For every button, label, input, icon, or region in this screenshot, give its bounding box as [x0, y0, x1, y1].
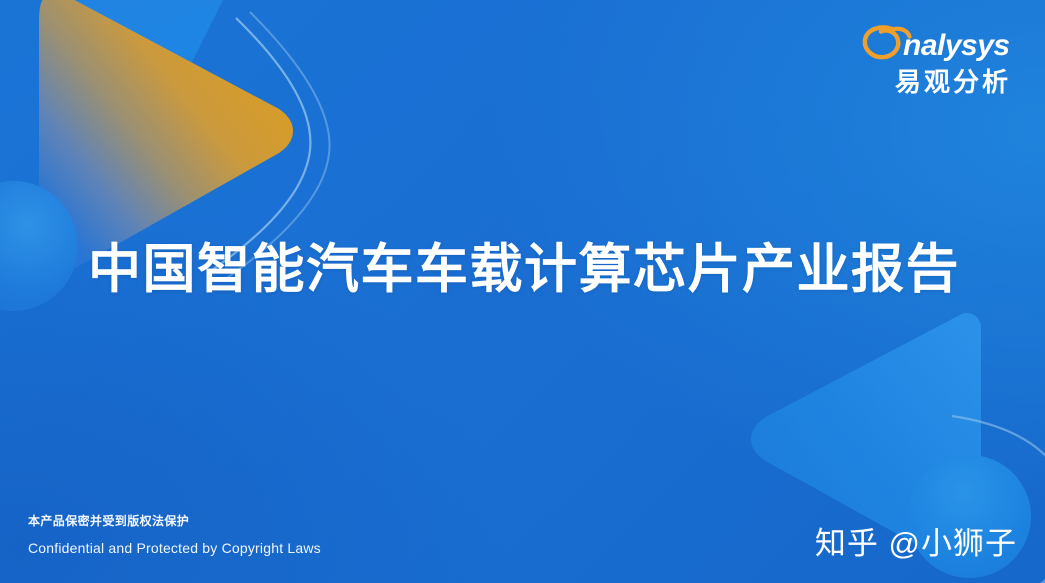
report-cover-slide: nalysys 易观分析 中国智能汽车车载计算芯片产业报告 本产品保密并受到版权…: [0, 0, 1045, 583]
analysys-logo: nalysys 易观分析: [831, 22, 1011, 98]
copyright-notice-en: Confidential and Protected by Copyright …: [28, 539, 321, 557]
analysys-wordmark-icon: nalysys: [859, 22, 1011, 64]
copyright-notice: 本产品保密并受到版权法保护 Confidential and Protected…: [28, 512, 321, 557]
analysys-logo-label-cn: 易观分析: [831, 68, 1011, 98]
left-edge-circle-shape: [0, 181, 78, 311]
zhihu-watermark: 知乎 @小狮子: [815, 527, 1017, 561]
light-blue-triangle-shape: [28, 0, 243, 157]
page-title: 中国智能汽车车载计算芯片产业报告: [88, 239, 960, 302]
svg-text:nalysys: nalysys: [903, 29, 1010, 62]
copyright-notice-cn: 本产品保密并受到版权法保护: [28, 512, 321, 530]
